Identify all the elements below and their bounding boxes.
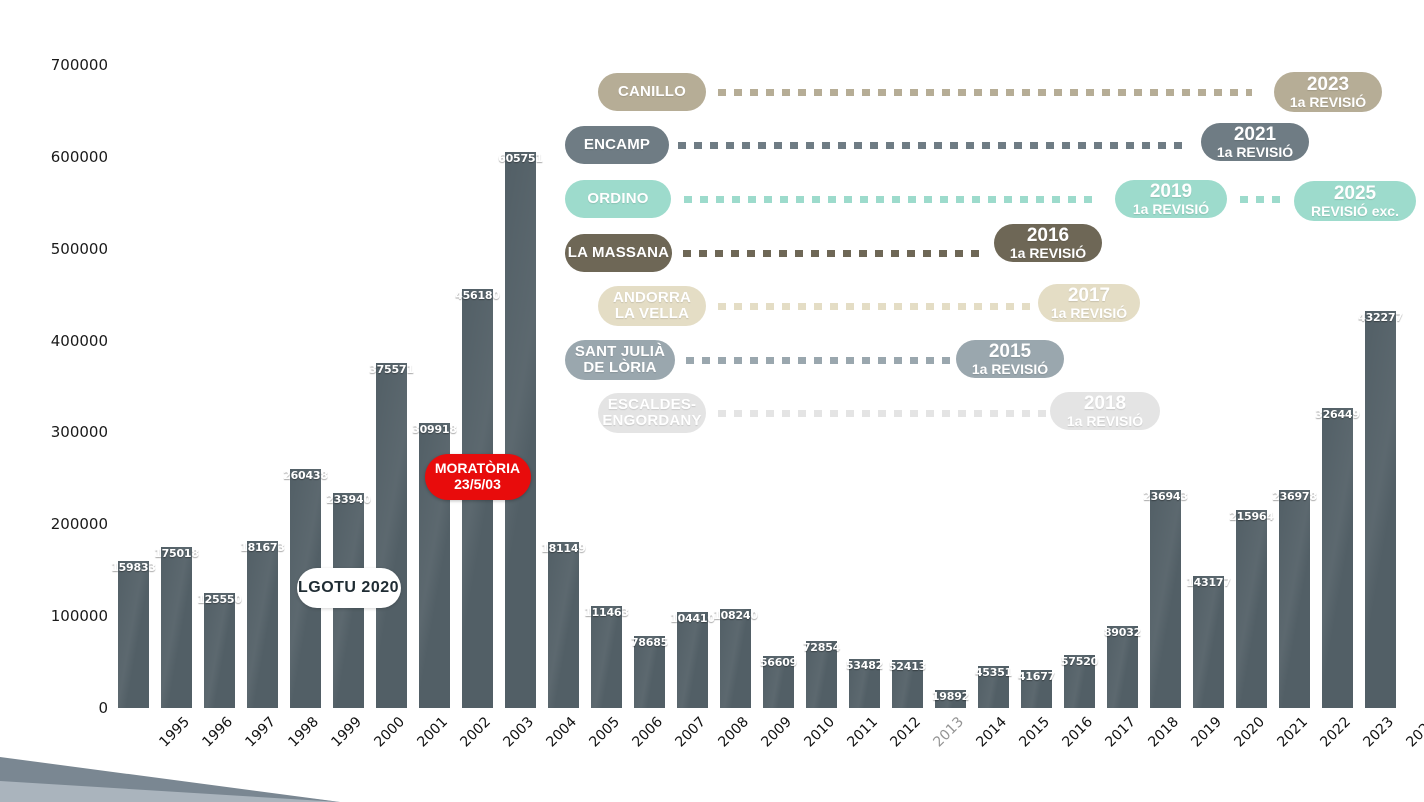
bar-rect[interactable]: 52413 (892, 660, 922, 708)
x-axis-tick-label: 2019 (1188, 714, 1225, 751)
bar-2010[interactable]: 56609 (763, 65, 793, 708)
bar-value-label: 52413 (889, 659, 926, 674)
x-axis-tick-label: 2020 (1231, 714, 1268, 751)
timeline-dotted-connector (686, 357, 950, 364)
milestone-year: 2017 (1068, 286, 1110, 306)
bar-2024[interactable]: 432277 (1365, 65, 1395, 708)
bar-value-label: 456180 (455, 288, 500, 303)
timeline-dotted-connector-secondary (1240, 196, 1283, 203)
x-axis-tick-label: 2014 (973, 714, 1010, 751)
x-axis-tick-label: 2003 (500, 714, 537, 751)
bar-rect[interactable]: 175018 (161, 547, 191, 708)
bar-rect[interactable]: 57520 (1064, 655, 1094, 708)
bar-2023[interactable]: 326449 (1322, 65, 1352, 708)
bar-value-label: 53482 (846, 658, 883, 673)
bar-rect[interactable]: 143177 (1193, 576, 1223, 708)
bar-value-label: 19892 (932, 689, 969, 704)
bar-value-label: 236978 (1272, 489, 1317, 504)
timeline-parish-pill[interactable]: CANILLO (598, 73, 706, 111)
milestone-subtitle: REVISIÓ exc. (1311, 204, 1399, 219)
x-axis-tick-label: 2008 (715, 714, 752, 751)
bar-value-label: 108240 (713, 608, 758, 623)
bar-rect[interactable]: 111463 (591, 606, 621, 708)
timeline-milestone-pill[interactable]: 20151a REVISIÓ (956, 340, 1064, 378)
bar-rect[interactable]: 56609 (763, 656, 793, 708)
x-axis-tick-label: 2013 (930, 714, 967, 751)
bar-2018[interactable]: 89032 (1107, 65, 1137, 708)
y-axis-tick-label: 700000 (0, 56, 108, 74)
bar-value-label: 326449 (1315, 407, 1360, 422)
bar-2001[interactable]: 375571 (376, 65, 406, 708)
y-axis: 0100000200000300000400000500000600000700… (0, 0, 108, 802)
bar-value-label: 175018 (154, 546, 199, 561)
x-axis-tick-label: 1998 (285, 714, 322, 751)
bar-rect[interactable]: 53482 (849, 659, 879, 708)
bar-2016[interactable]: 41677 (1021, 65, 1051, 708)
bar-rect[interactable]: 159833 (118, 561, 148, 708)
milestone-year: 2025 (1334, 184, 1376, 204)
x-axis-tick-label: 2022 (1317, 714, 1354, 751)
timeline-dotted-connector (678, 142, 1186, 149)
bar-value-label: 181149 (541, 541, 586, 556)
x-axis-tick-label: 2012 (887, 714, 924, 751)
bar-value-label: 605751 (498, 151, 543, 166)
x-axis-tick-label: 1997 (242, 714, 279, 751)
bar-value-label: 78685 (631, 635, 668, 650)
bar-rect[interactable]: 108240 (720, 609, 750, 708)
milestone-year: 2016 (1027, 226, 1069, 246)
timeline-parish-pill[interactable]: ESCALDES-ENGORDANY (598, 393, 706, 433)
timeline-milestone-pill[interactable]: 20161a REVISIÓ (994, 224, 1102, 262)
bar-rect[interactable]: 41677 (1021, 670, 1051, 708)
bar-value-label: 159833 (111, 560, 156, 575)
bar-value-label: 233940 (326, 492, 371, 507)
x-axis-tick-label: 2011 (844, 714, 881, 751)
timeline-dotted-connector (684, 196, 1100, 203)
parish-name-line: LA VELLA (615, 306, 689, 322)
bar-value-label: 260438 (283, 468, 328, 483)
milestone-subtitle: 1a REVISIÓ (1067, 414, 1143, 429)
bar-rect[interactable]: 78685 (634, 636, 664, 708)
milestone-year: 2015 (989, 342, 1031, 362)
x-axis-tick-label: 2002 (457, 714, 494, 751)
bar-value-label: 432277 (1358, 310, 1403, 325)
bar-2017[interactable]: 57520 (1064, 65, 1094, 708)
bar-2002[interactable]: 309918 (419, 65, 449, 708)
bar-1999[interactable]: 260438 (290, 65, 320, 708)
milestone-subtitle: 1a REVISIÓ (1290, 95, 1366, 110)
x-axis-tick-label: 2006 (629, 714, 666, 751)
bar-rect[interactable]: 605751 (505, 152, 535, 708)
milestone-subtitle: 1a REVISIÓ (1010, 246, 1086, 261)
milestone-subtitle: 1a REVISIÓ (1217, 145, 1293, 160)
y-axis-tick-label: 400000 (0, 332, 108, 350)
bar-value-label: 89032 (1104, 625, 1141, 640)
parish-name-line: ENGORDANY (602, 413, 701, 429)
timeline-milestone-pill[interactable]: 20231a REVISIÓ (1274, 72, 1382, 112)
x-axis-tick-label: 2021 (1274, 714, 1311, 751)
bar-value-label: 309918 (412, 422, 457, 437)
bar-2021[interactable]: 215964 (1236, 65, 1266, 708)
annotation-label: LGOTU 2020 (298, 579, 399, 597)
timeline-milestone-pill[interactable]: 20171a REVISIÓ (1038, 284, 1140, 322)
bar-rect[interactable]: 236978 (1279, 490, 1309, 708)
bar-rect[interactable]: 326449 (1322, 408, 1352, 708)
timeline-parish-pill[interactable]: LA MASSANA (565, 234, 672, 272)
bar-value-label: 72854 (803, 640, 840, 655)
y-axis-tick-label: 300000 (0, 423, 108, 441)
parish-name-line: ESCALDES- (608, 397, 696, 413)
x-axis-tick-label: 2017 (1102, 714, 1139, 751)
milestone-subtitle: 1a REVISIÓ (972, 362, 1048, 377)
parish-name-line: CANILLO (618, 84, 686, 100)
y-axis-tick-label: 600000 (0, 148, 108, 166)
bar-1995[interactable]: 159833 (118, 65, 148, 708)
milestone-year: 2018 (1084, 394, 1126, 414)
bar-rect[interactable]: 215964 (1236, 510, 1266, 708)
y-axis-tick-label: 100000 (0, 607, 108, 625)
bar-value-label: 143177 (1186, 575, 1231, 590)
bar-2008[interactable]: 104410 (677, 65, 707, 708)
annotation-label-line1: MORATÒRIA (435, 461, 520, 477)
milestone-year: 2023 (1307, 75, 1349, 95)
timeline-milestone-pill[interactable]: 20191a REVISIÓ (1115, 180, 1227, 218)
plot-area: 1598331750181255501816732604382339403755… (112, 65, 1402, 708)
bar-rect[interactable]: 181673 (247, 541, 277, 708)
parish-name-line: LA MASSANA (568, 245, 669, 261)
bar-value-label: 375571 (369, 362, 414, 377)
x-axis-tick-label: 2001 (414, 714, 451, 751)
milestone-year: 2021 (1234, 125, 1276, 145)
x-axis-tick-label: 1995 (156, 714, 193, 751)
parish-name-line: DE LÒRIA (583, 360, 656, 376)
x-axis-tick-label: 2018 (1145, 714, 1182, 751)
x-axis-tick-label: 2015 (1016, 714, 1053, 751)
timeline-dotted-connector (718, 89, 1252, 96)
bar-rect[interactable]: 45351 (978, 666, 1008, 708)
timeline-dotted-connector (683, 250, 983, 257)
bar-rect[interactable]: 236943 (1150, 490, 1180, 708)
bar-value-label: 215964 (1229, 509, 1274, 524)
bar-2020[interactable]: 143177 (1193, 65, 1223, 708)
x-axis-tick-label: 2009 (758, 714, 795, 751)
bar-value-label: 41677 (1018, 669, 1055, 684)
parish-name-line: ORDINO (587, 191, 648, 207)
bar-rect[interactable]: 125550 (204, 593, 234, 708)
milestone-subtitle: 1a REVISIÓ (1051, 306, 1127, 321)
x-axis-tick-label: 1996 (199, 714, 236, 751)
annotation-label-line2: 23/5/03 (454, 477, 501, 493)
bar-rect[interactable]: 432277 (1365, 311, 1395, 708)
bar-2012[interactable]: 53482 (849, 65, 879, 708)
parish-name-line: ANDORRA (613, 290, 691, 306)
bar-1996[interactable]: 175018 (161, 65, 191, 708)
timeline-dotted-connector (718, 410, 1048, 417)
bar-2019[interactable]: 236943 (1150, 65, 1180, 708)
y-axis-tick-label: 0 (0, 699, 108, 717)
bar-2015[interactable]: 45351 (978, 65, 1008, 708)
timeline-milestone-pill[interactable]: 2025REVISIÓ exc. (1294, 181, 1416, 221)
y-axis-tick-label: 500000 (0, 240, 108, 258)
annotation-lgotu: LGOTU 2020 (297, 568, 401, 608)
bar-value-label: 104410 (670, 611, 715, 626)
milestone-subtitle: 1a REVISIÓ (1133, 202, 1209, 217)
timeline-parish-pill[interactable]: ORDINO (565, 180, 671, 218)
bar-rect[interactable]: 72854 (806, 641, 836, 708)
bar-rect[interactable]: 181149 (548, 542, 578, 708)
bar-value-label: 236943 (1143, 489, 1188, 504)
bar-rect[interactable]: 375571 (376, 363, 406, 708)
bar-2022[interactable]: 236978 (1279, 65, 1309, 708)
bar-2003[interactable]: 456180 (462, 65, 492, 708)
x-axis-tick-label: 2005 (586, 714, 623, 751)
x-axis-tick-label: 2023 (1360, 714, 1397, 751)
x-axis-tick-label: 2016 (1059, 714, 1096, 751)
timeline-dotted-connector (718, 303, 1030, 310)
timeline-milestone-pill[interactable]: 20211a REVISIÓ (1201, 123, 1309, 161)
milestone-year: 2019 (1150, 182, 1192, 202)
x-axis-tick-label: 2000 (371, 714, 408, 751)
timeline-milestone-pill[interactable]: 20181a REVISIÓ (1050, 392, 1160, 430)
bar-value-label: 181673 (240, 540, 285, 555)
bar-chart: 0100000200000300000400000500000600000700… (0, 0, 1424, 802)
bar-1998[interactable]: 181673 (247, 65, 277, 708)
bar-2013[interactable]: 52413 (892, 65, 922, 708)
bar-value-label: 57520 (1061, 654, 1098, 669)
bar-value-label: 111463 (584, 605, 629, 620)
bar-2004[interactable]: 605751 (505, 65, 535, 708)
x-axis-tick-label: 2007 (672, 714, 709, 751)
bar-value-label: 45351 (975, 665, 1012, 680)
bar-rect[interactable]: 104410 (677, 612, 707, 708)
bar-1997[interactable]: 125550 (204, 65, 234, 708)
bar-rect[interactable]: 89032 (1107, 626, 1137, 708)
x-axis-tick-label: 2024 (1403, 714, 1424, 751)
bar-2014[interactable]: 19892 (935, 65, 965, 708)
bar-rect[interactable]: 19892 (935, 690, 965, 708)
annotation-moratoria: MORATÒRIA23/5/03 (425, 454, 531, 500)
timeline-parish-pill[interactable]: ENCAMP (565, 126, 669, 164)
bar-2009[interactable]: 108240 (720, 65, 750, 708)
x-axis-tick-label: 1999 (328, 714, 365, 751)
timeline-parish-pill[interactable]: SANT JULIÀDE LÒRIA (565, 340, 675, 380)
bar-value-label: 125550 (197, 592, 242, 607)
bar-value-label: 56609 (760, 655, 797, 670)
x-axis-tick-label: 2004 (543, 714, 580, 751)
bar-2011[interactable]: 72854 (806, 65, 836, 708)
y-axis-tick-label: 200000 (0, 515, 108, 533)
bar-2000[interactable]: 233940 (333, 65, 363, 708)
parish-name-line: ENCAMP (584, 137, 650, 153)
x-axis-tick-label: 2010 (801, 714, 838, 751)
parish-name-line: SANT JULIÀ (575, 344, 665, 360)
timeline-parish-pill[interactable]: ANDORRALA VELLA (598, 286, 706, 326)
